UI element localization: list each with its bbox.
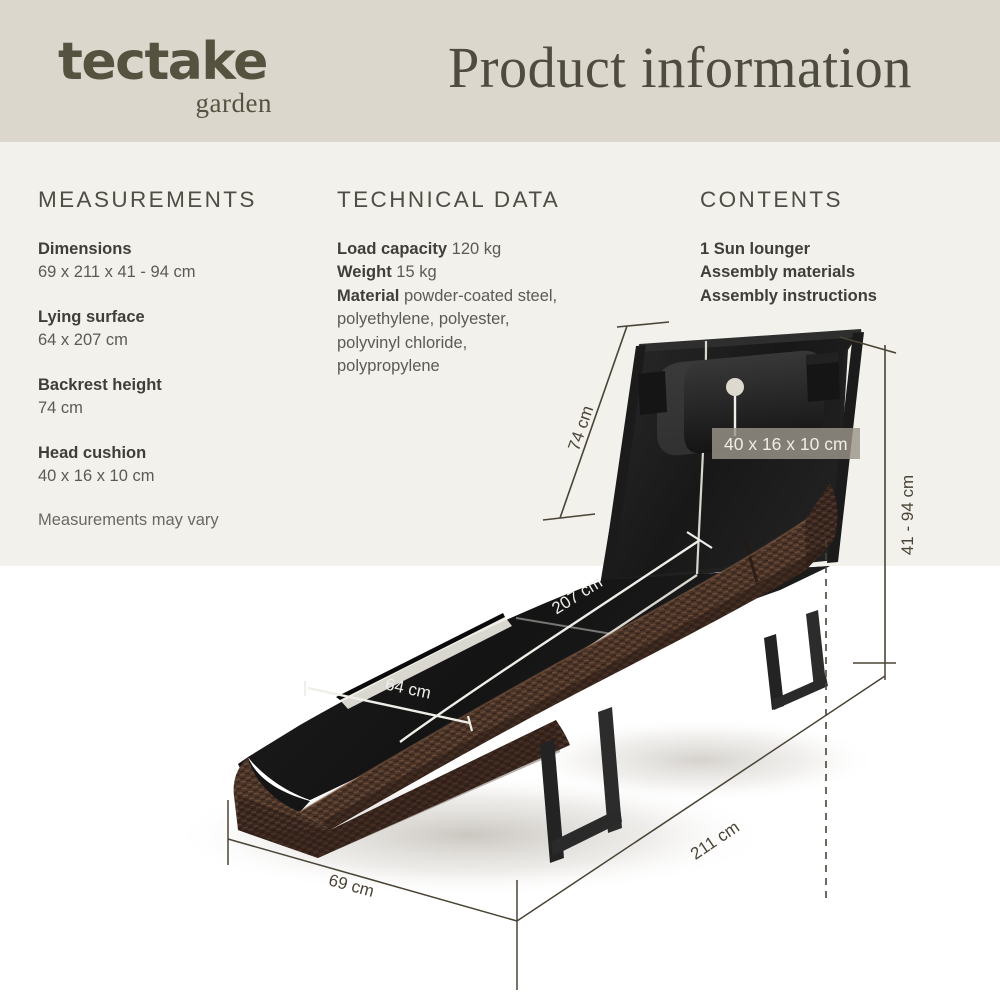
product-information-sheet: tectake garden Product information MEASU… bbox=[0, 0, 1000, 1000]
cushion-strap-left bbox=[638, 371, 667, 415]
leg-rear-right bbox=[806, 610, 826, 688]
dim-label-74cm: 74 cm bbox=[564, 403, 597, 453]
product-illustration: 74 cm 41 - 94 cm 207 cm 64 cm bbox=[0, 0, 1000, 1000]
dim-label-41-94cm: 41 - 94 cm bbox=[898, 475, 917, 555]
dim-tick-bottom bbox=[543, 514, 595, 520]
dim-tick-top bbox=[617, 322, 669, 327]
callout-label: 40 x 16 x 10 cm bbox=[724, 434, 848, 454]
callout-anchor-dot bbox=[726, 378, 744, 396]
